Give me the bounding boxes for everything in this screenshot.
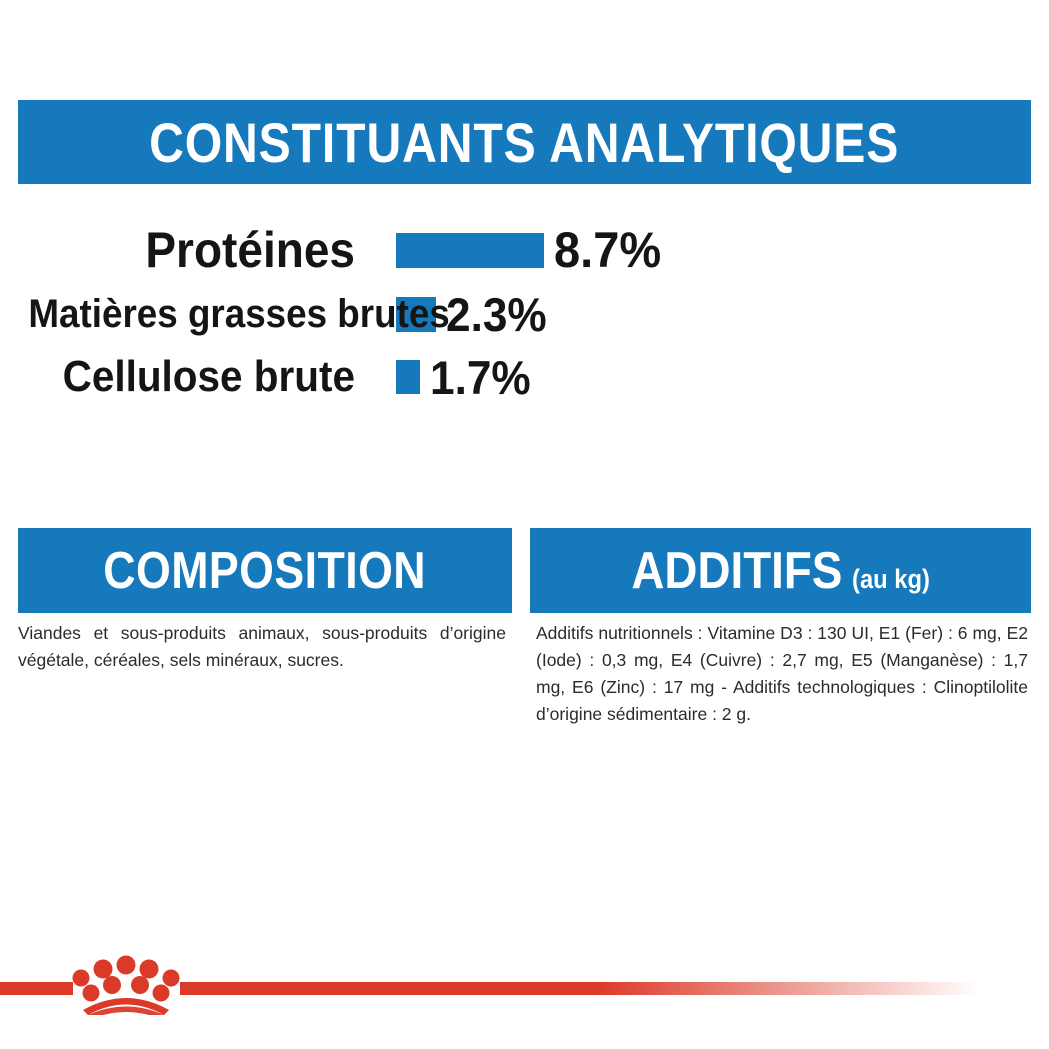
nutrient-value-proteines: 8.7% <box>554 221 661 279</box>
nutrient-value-cellulose-brute: 1.7% <box>430 350 531 405</box>
footer-rule-left <box>0 982 73 995</box>
additifs-header: ADDITIFS (au kg) <box>530 528 1031 613</box>
analytical-constituents-title: CONSTITUANTS ANALYTIQUES <box>149 110 899 175</box>
additifs-title: ADDITIFS <box>631 541 842 601</box>
nutrition-panel: CONSTITUANTS ANALYTIQUES Protéines 8.7% … <box>0 0 1049 1049</box>
composition-header: COMPOSITION <box>18 528 512 613</box>
nutrient-row-proteines: Protéines 8.7% <box>0 219 1049 281</box>
nutrient-label-matieres-grasses-brutes: Matières grasses brutes <box>28 292 355 337</box>
nutrient-row-matieres-grasses-brutes: Matières grasses brutes 2.3% <box>0 285 1049 343</box>
composition-title: COMPOSITION <box>104 541 427 601</box>
nutrient-value-matieres-grasses-brutes: 2.3% <box>446 287 547 342</box>
footer-rule-right <box>180 982 980 995</box>
additifs-title-unit: (au kg) <box>852 564 930 595</box>
nutrient-bar-proteines <box>396 233 544 268</box>
composition-body-text: Viandes et sous-produits animaux, sous-p… <box>18 620 506 674</box>
nutrient-label-cellulose-brute: Cellulose brute <box>28 352 355 402</box>
additifs-body-text: Additifs nutritionnels : Vitamine D3 : 1… <box>536 620 1028 728</box>
analytical-constituents-chart: Protéines 8.7% Matières grasses brutes 2… <box>0 205 1049 405</box>
nutrient-bar-cellulose-brute <box>396 360 420 394</box>
nutrient-label-proteines: Protéines <box>28 221 355 279</box>
nutrient-row-cellulose-brute: Cellulose brute 1.7% <box>0 348 1049 406</box>
analytical-constituents-header: CONSTITUANTS ANALYTIQUES <box>18 100 1031 184</box>
royal-canin-crown-icon <box>71 953 181 1015</box>
additifs-title-group: ADDITIFS (au kg) <box>631 541 930 601</box>
